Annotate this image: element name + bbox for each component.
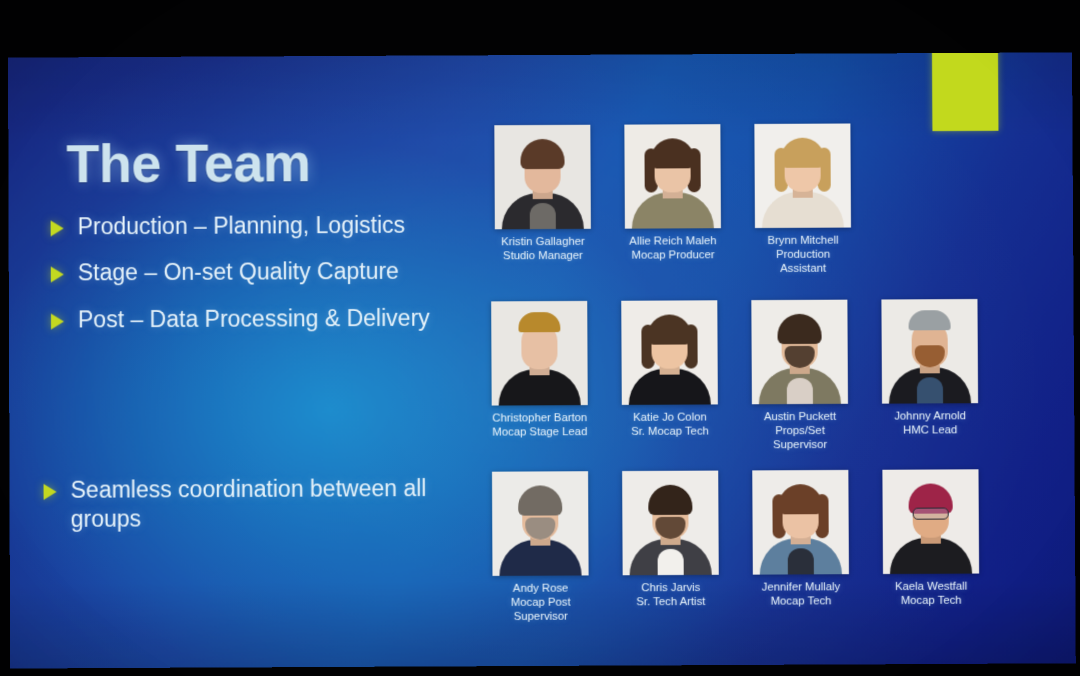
team-member-role: Mocap Stage Lead	[492, 425, 588, 440]
team-member-caption: Brynn MitchellProduction Assistant	[755, 234, 851, 277]
team-member-card: Chris JarvisSr. Tech Artist	[622, 471, 719, 625]
team-member-name: Jennifer Mullaly	[762, 581, 841, 593]
team-member-role: Sr. Mocap Tech	[622, 425, 718, 440]
hat	[518, 312, 560, 332]
team-member-caption: Andy RoseMocap Post Supervisor	[493, 581, 589, 624]
team-member-caption: Chris JarvisSr. Tech Artist	[623, 581, 719, 610]
presentation-slide: The Team Production – Planning, Logistic…	[8, 52, 1076, 668]
team-member-card: Brynn MitchellProduction Assistant	[754, 123, 851, 276]
team-photo-grid: Kristin GallagherStudio ManagerAllie Rei…	[486, 123, 1019, 646]
bullet-item: Post – Data Processing & Delivery	[51, 303, 481, 335]
team-member-card: Johnny ArnoldHMC Lead	[881, 299, 978, 452]
team-member-card: Austin PuckettProps/Set Supervisor	[751, 300, 848, 453]
avatar	[492, 471, 589, 576]
bullet-item: Production – Planning, Logistics	[51, 210, 481, 242]
team-member-role: Studio Manager	[495, 249, 591, 264]
team-row: Andy RoseMocap Post SupervisorChris Jarv…	[492, 469, 979, 624]
shirt	[658, 549, 684, 575]
shirt	[788, 548, 814, 574]
team-member-card: Katie Jo ColonSr. Mocap Tech	[621, 300, 718, 453]
team-member-caption: Johnny ArnoldHMC Lead	[882, 409, 978, 438]
page-title: The Team	[66, 132, 310, 195]
team-member-name: Kristin Gallagher	[501, 236, 585, 248]
avatar	[494, 125, 591, 230]
bullet-list-extra: Seamless coordination between all groups	[44, 474, 485, 552]
triangle-bullet-icon	[51, 220, 64, 236]
team-member-role: Mocap Post Supervisor	[493, 596, 589, 625]
team-member-card: Kaela WestfallMocap Tech	[882, 469, 979, 623]
team-member-name: Kaela Westfall	[895, 581, 967, 593]
team-member-card: Christopher BartonMocap Stage Lead	[491, 301, 588, 454]
bullet-text: Post – Data Processing & Delivery	[78, 304, 430, 335]
team-member-name: Johnny Arnold	[894, 410, 966, 422]
team-member-role: Production Assistant	[755, 248, 851, 277]
team-row: Christopher BartonMocap Stage LeadKatie …	[491, 299, 978, 454]
team-member-name: Christopher Barton	[492, 412, 587, 424]
bullet-item: Stage – On-set Quality Capture	[51, 257, 481, 289]
team-member-role: Mocap Producer	[625, 248, 721, 263]
team-member-role: HMC Lead	[882, 423, 978, 438]
avatar	[621, 300, 718, 405]
accent-rectangle	[932, 52, 999, 131]
team-member-role: Props/Set Supervisor	[752, 424, 848, 453]
avatar	[752, 470, 849, 575]
team-member-caption: Katie Jo ColonSr. Mocap Tech	[622, 410, 718, 439]
avatar	[881, 299, 978, 404]
team-member-caption: Kristin GallagherStudio Manager	[495, 235, 591, 264]
team-member-name: Austin Puckett	[764, 411, 836, 423]
bullet-text: Stage – On-set Quality Capture	[78, 257, 399, 288]
avatar	[751, 300, 848, 405]
team-member-caption: Kaela WestfallMocap Tech	[883, 580, 979, 609]
glasses-icon	[913, 508, 949, 520]
avatar	[754, 123, 851, 228]
team-member-role: Mocap Tech	[753, 594, 849, 609]
team-member-card: Kristin GallagherStudio Manager	[494, 125, 591, 278]
bullet-item: Seamless coordination between all groups	[44, 474, 485, 535]
team-member-name: Allie Reich Maleh	[629, 235, 716, 247]
team-member-role: Mocap Tech	[883, 594, 979, 609]
bullet-text: Production – Planning, Logistics	[78, 211, 406, 242]
team-member-name: Brynn Mitchell	[768, 235, 839, 247]
shirt	[787, 378, 813, 404]
avatar	[491, 301, 588, 406]
team-member-name: Chris Jarvis	[641, 582, 700, 594]
team-member-name: Katie Jo Colon	[633, 412, 707, 424]
team-member-name: Andy Rose	[513, 583, 568, 595]
team-row: Kristin GallagherStudio ManagerAllie Rei…	[494, 123, 851, 278]
shirt	[530, 203, 556, 229]
team-member-card: Jennifer MullalyMocap Tech	[752, 470, 849, 624]
avatar	[622, 471, 719, 576]
projected-slide-stage: The Team Production – Planning, Logistic…	[0, 0, 1080, 676]
triangle-bullet-icon	[51, 267, 64, 283]
shirt	[917, 377, 943, 403]
team-member-caption: Austin PuckettProps/Set Supervisor	[752, 410, 848, 453]
team-member-role: Sr. Tech Artist	[623, 595, 719, 610]
team-member-card: Allie Reich MalehMocap Producer	[624, 124, 721, 277]
hat	[908, 310, 950, 330]
bullet-text: Seamless coordination between all groups	[71, 474, 427, 535]
triangle-bullet-icon	[51, 313, 64, 329]
team-member-caption: Christopher BartonMocap Stage Lead	[492, 411, 588, 440]
team-member-caption: Allie Reich MalehMocap Producer	[625, 234, 721, 263]
avatar	[882, 469, 979, 574]
bullet-list-main: Production – Planning, LogisticsStage – …	[51, 210, 482, 352]
team-member-caption: Jennifer MullalyMocap Tech	[753, 580, 849, 609]
team-member-card: Andy RoseMocap Post Supervisor	[492, 471, 589, 625]
avatar	[624, 124, 721, 229]
triangle-bullet-icon	[44, 484, 57, 500]
